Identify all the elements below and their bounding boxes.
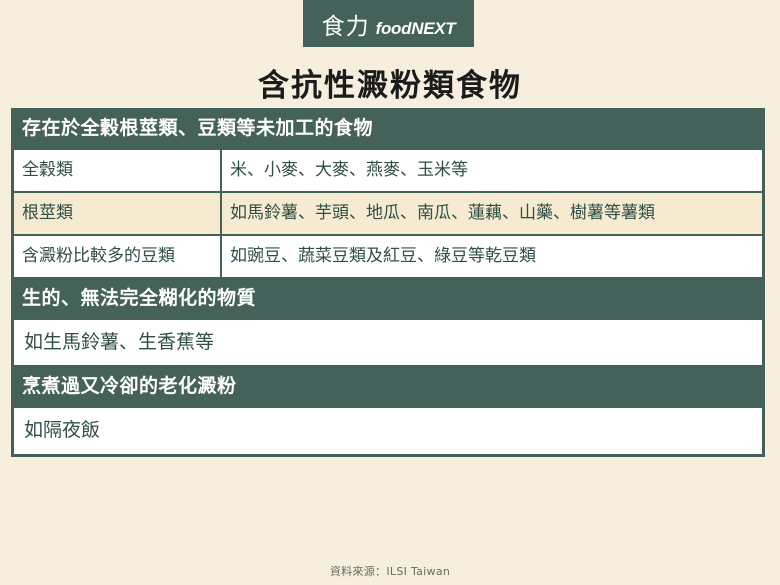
table-row: 根莖類 如馬鈴薯、芋頭、地瓜、南瓜、蓮藕、山藥、樹薯等薯類 — [14, 193, 762, 236]
section-2-note: 如生馬鈴薯、生香蕉等 — [14, 320, 762, 366]
content-table: 存在於全穀根莖類、豆類等未加工的食物 全穀類 米、小麥、大麥、燕麥、玉米等 根莖… — [11, 108, 765, 457]
logo-english-text: foodNEXT — [376, 19, 456, 39]
row-value: 如馬鈴薯、芋頭、地瓜、南瓜、蓮藕、山藥、樹薯等薯類 — [222, 193, 762, 234]
row-label: 根莖類 — [14, 193, 222, 234]
row-label: 全穀類 — [14, 150, 222, 191]
table-row: 含澱粉比較多的豆類 如豌豆、蔬菜豆類及紅豆、綠豆等乾豆類 — [14, 236, 762, 277]
brand-logo: 食力 foodNEXT — [303, 0, 474, 47]
row-label: 含澱粉比較多的豆類 — [14, 236, 222, 277]
table-row: 全穀類 米、小麥、大麥、燕麥、玉米等 — [14, 150, 762, 193]
logo-chinese-text: 食力 — [322, 7, 370, 41]
row-value: 如豌豆、蔬菜豆類及紅豆、綠豆等乾豆類 — [222, 236, 762, 277]
row-value: 米、小麥、大麥、燕麥、玉米等 — [222, 150, 762, 191]
logo-lockup: 食力 foodNEXT — [322, 7, 456, 41]
source-credit: 資料來源：ILSI Taiwan — [0, 563, 780, 579]
section-3-note: 如隔夜飯 — [14, 408, 762, 454]
section-heading-3: 烹煮過又冷卻的老化澱粉 — [12, 367, 764, 408]
section-1-rows: 全穀類 米、小麥、大麥、燕麥、玉米等 根莖類 如馬鈴薯、芋頭、地瓜、南瓜、蓮藕、… — [12, 150, 764, 279]
infographic-page: 食力 foodNEXT 含抗性澱粉類食物 存在於全穀根莖類、豆類等未加工的食物 … — [0, 0, 780, 585]
section-heading-2: 生的、無法完全糊化的物質 — [12, 279, 764, 320]
section-heading-1: 存在於全穀根莖類、豆類等未加工的食物 — [12, 109, 764, 150]
page-title: 含抗性澱粉類食物 — [0, 60, 780, 105]
